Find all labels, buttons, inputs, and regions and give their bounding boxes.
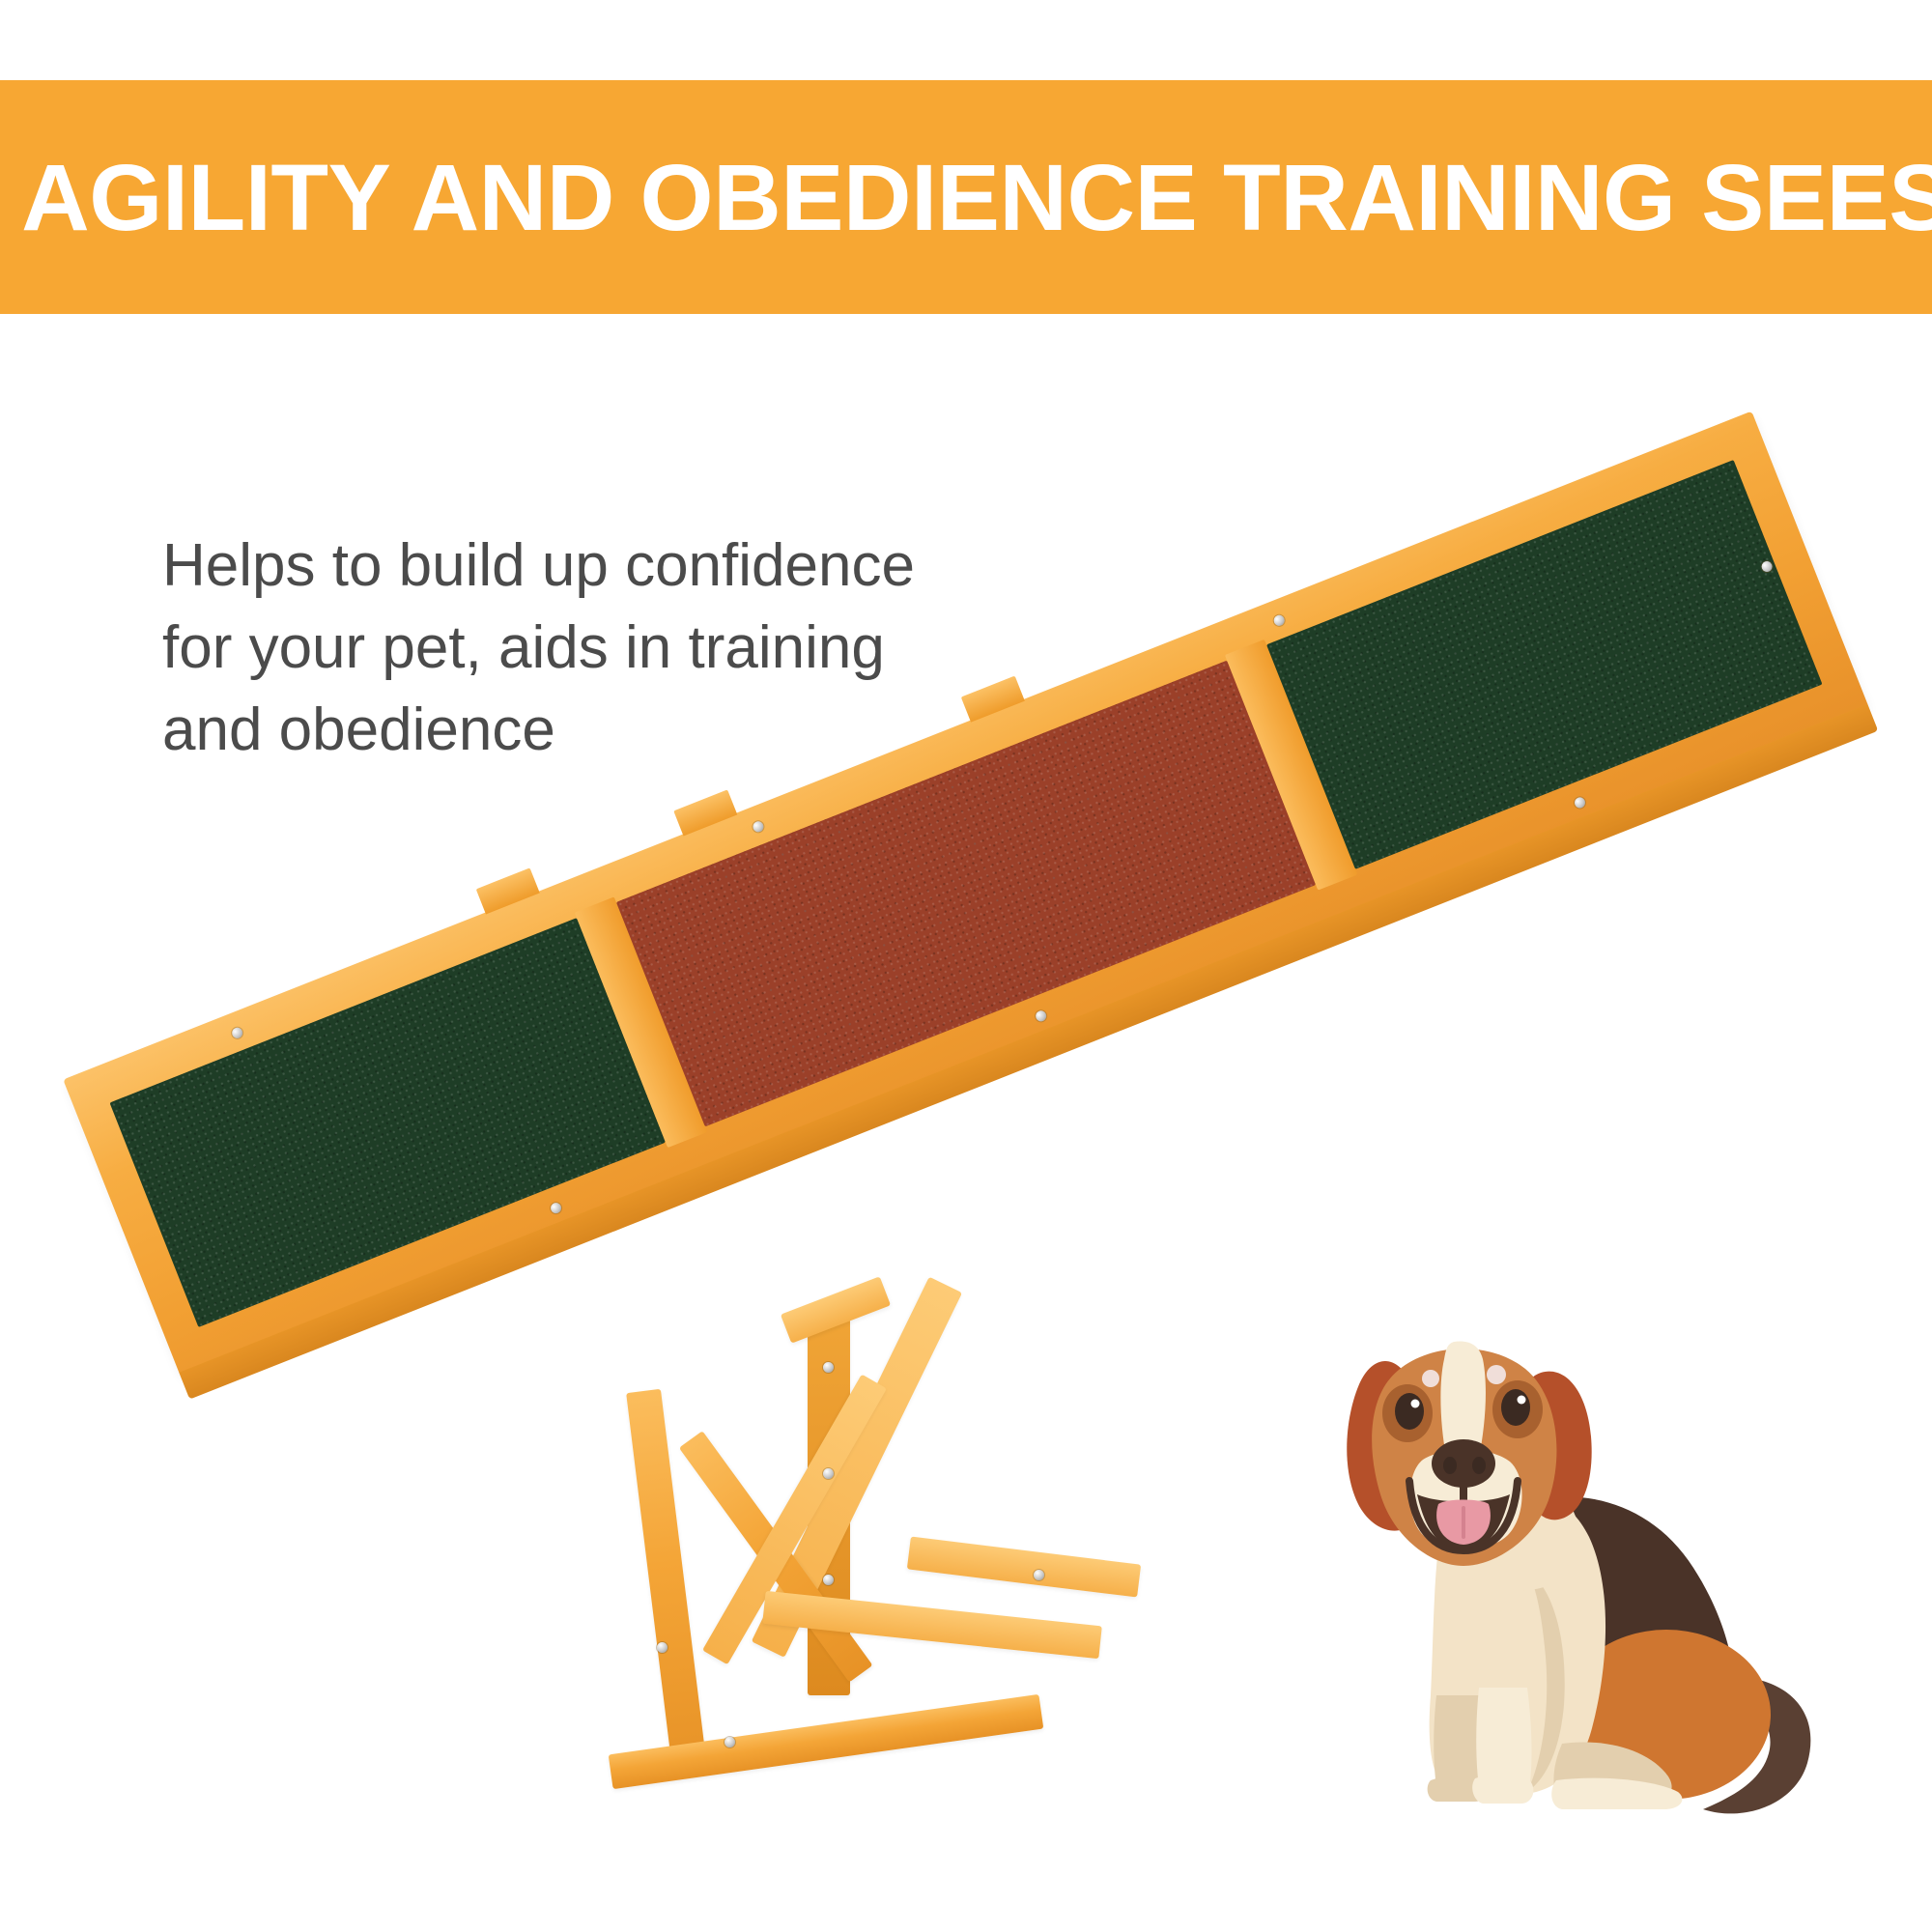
screw-icon bbox=[657, 1642, 668, 1653]
product-feature-page: AGILITY AND OBEDIENCE TRAINING SEESAW He… bbox=[0, 0, 1932, 1932]
header-banner: AGILITY AND OBEDIENCE TRAINING SEESAW bbox=[0, 80, 1932, 314]
screw-icon bbox=[823, 1362, 834, 1373]
screw-icon bbox=[549, 1201, 562, 1214]
seesaw-support-frame bbox=[618, 1352, 1352, 1855]
screw-icon bbox=[823, 1468, 834, 1479]
screw-icon bbox=[823, 1575, 834, 1585]
plank-wood-frame bbox=[63, 412, 1868, 1377]
screw-icon bbox=[231, 1026, 244, 1039]
dog-nostril-right bbox=[1472, 1457, 1486, 1474]
screw-icon bbox=[1034, 1570, 1044, 1580]
dog-eye-highlight-left bbox=[1411, 1400, 1420, 1408]
dog-nose bbox=[1432, 1439, 1495, 1488]
plank-stop-block bbox=[961, 676, 1025, 723]
page-title: AGILITY AND OBEDIENCE TRAINING SEESAW bbox=[0, 151, 1932, 244]
beagle-dog-illustration bbox=[1338, 1328, 1889, 1855]
dog-nostril-left bbox=[1443, 1457, 1457, 1474]
screw-icon bbox=[1035, 1009, 1048, 1023]
support-right-foot-rail bbox=[907, 1537, 1141, 1598]
screw-icon bbox=[1573, 796, 1586, 810]
dog-eye-right bbox=[1501, 1389, 1530, 1426]
seesaw-plank bbox=[63, 412, 1868, 1377]
dog-front-paw-near bbox=[1472, 1775, 1533, 1804]
screw-icon bbox=[752, 820, 765, 834]
deck-panel-red-center bbox=[616, 661, 1316, 1127]
dog-brow-spot-left bbox=[1422, 1370, 1439, 1387]
screw-icon bbox=[1272, 613, 1286, 627]
plank-stop-block bbox=[476, 867, 540, 914]
deck-panel-green-right bbox=[1266, 460, 1823, 869]
dog-brow-spot-right bbox=[1487, 1365, 1506, 1384]
screw-icon bbox=[724, 1737, 735, 1747]
plank-stop-block bbox=[673, 789, 737, 836]
dog-eye-highlight-right bbox=[1518, 1396, 1526, 1405]
dog-eye-left bbox=[1395, 1393, 1424, 1430]
deck-panel-green-left bbox=[109, 918, 666, 1327]
